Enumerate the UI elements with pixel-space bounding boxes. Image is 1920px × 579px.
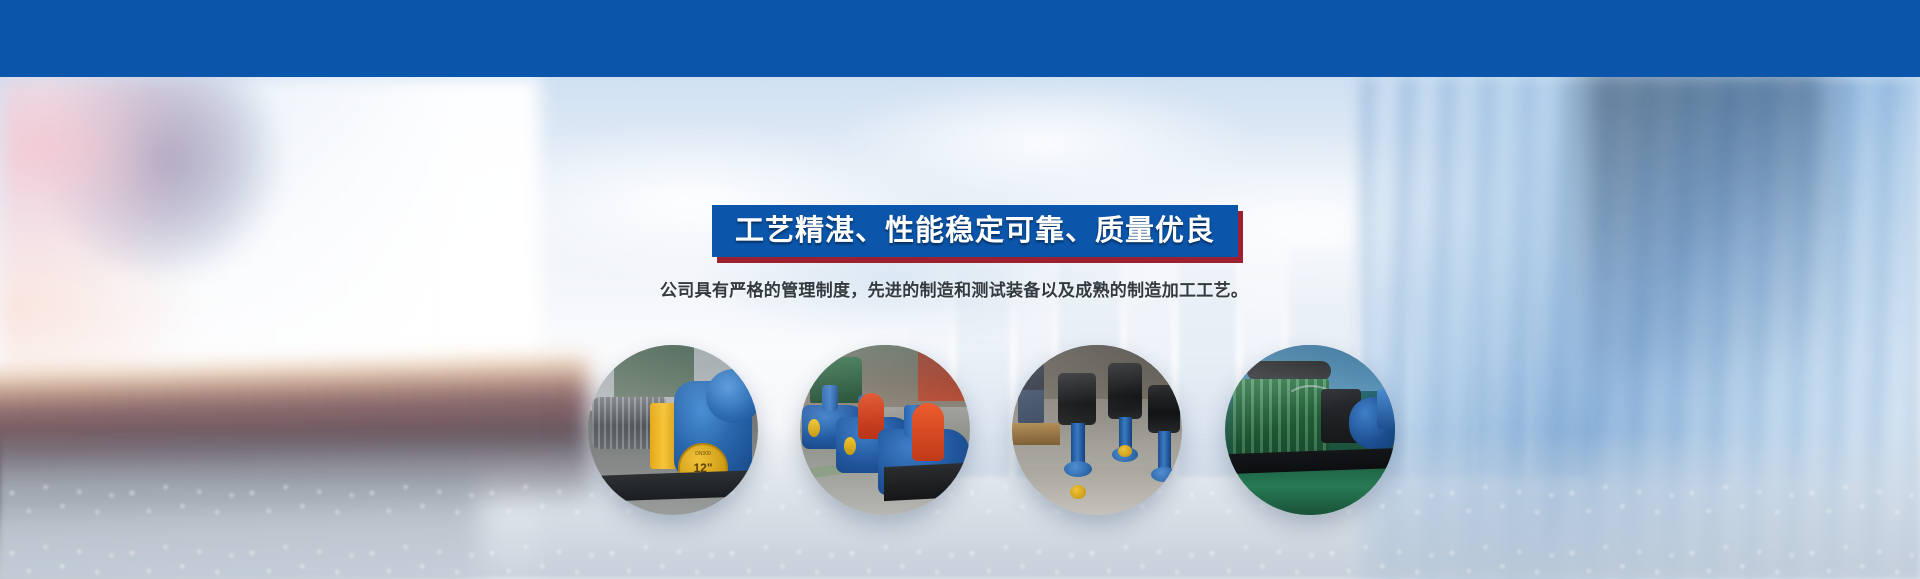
- subtitle-text: 公司具有严格的管理制度，先进的制造和测试装备以及成熟的制造加工工艺。: [660, 280, 1360, 302]
- headline-plate: 工艺精湛、性能稳定可靠、质量优良: [712, 205, 1238, 257]
- product-photo-circle-4[interactable]: [1225, 345, 1395, 515]
- split-case-pump-photo: DN300 12": [588, 345, 758, 515]
- slurry-pump-row-photo: [800, 345, 970, 515]
- product-photo-circle-1[interactable]: DN300 12": [588, 345, 758, 515]
- site-navigation-bar[interactable]: [0, 0, 1920, 77]
- product-photo-circle-2[interactable]: [800, 345, 970, 515]
- headline-block: 工艺精湛、性能稳定可靠、质量优良: [712, 205, 1238, 257]
- inline-pipeline-pump-photo: [1012, 345, 1182, 515]
- hero-banner: 工艺精湛、性能稳定可靠、质量优良 公司具有严格的管理制度，先进的制造和测试装备以…: [0, 0, 1920, 579]
- pump-spec-label: DN300: [695, 451, 711, 457]
- headline-text: 工艺精湛、性能稳定可靠、质量优良: [735, 217, 1215, 246]
- diesel-engine-pump-photo: [1225, 345, 1395, 515]
- product-photo-circle-3[interactable]: [1012, 345, 1182, 515]
